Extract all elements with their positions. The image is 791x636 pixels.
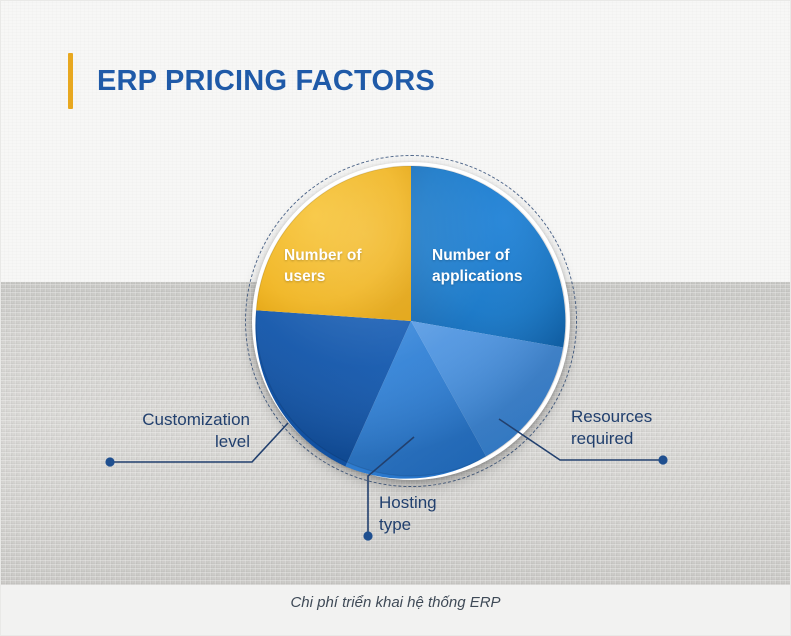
callout-resources-required: Resources required — [571, 406, 652, 450]
slice-label-number-of-applications: Number of applications — [432, 245, 562, 287]
slice-label-users-line2: users — [284, 266, 404, 287]
callout-customization-line2: level — [118, 431, 250, 453]
figure-caption: Chi phí triển khai hệ thống ERP — [0, 594, 791, 611]
callout-hosting-line1: Hosting — [379, 492, 437, 514]
slice-label-applications-line1: Number of — [432, 245, 562, 266]
slice-label-users-line1: Number of — [284, 245, 404, 266]
callout-customization-level: Customization level — [118, 409, 250, 453]
pie-chart: Number of users Number of applications — [236, 148, 586, 498]
callout-hosting-type: Hosting type — [379, 492, 437, 536]
slide-canvas: ERP PRICING FACTORS — [0, 0, 791, 636]
callout-resources-line1: Resources — [571, 406, 652, 428]
slide-title-group: ERP PRICING FACTORS — [68, 53, 435, 109]
callout-hosting-line2: type — [379, 514, 437, 536]
slice-label-applications-line2: applications — [432, 266, 562, 287]
title-accent-bar — [68, 53, 73, 109]
callout-resources-line2: required — [571, 428, 652, 450]
page-title: ERP PRICING FACTORS — [97, 53, 435, 109]
slice-label-number-of-users: Number of users — [284, 245, 404, 287]
pie-slices-svg — [252, 162, 570, 480]
pie-sheen-overlay — [256, 166, 566, 476]
callout-customization-line1: Customization — [118, 409, 250, 431]
